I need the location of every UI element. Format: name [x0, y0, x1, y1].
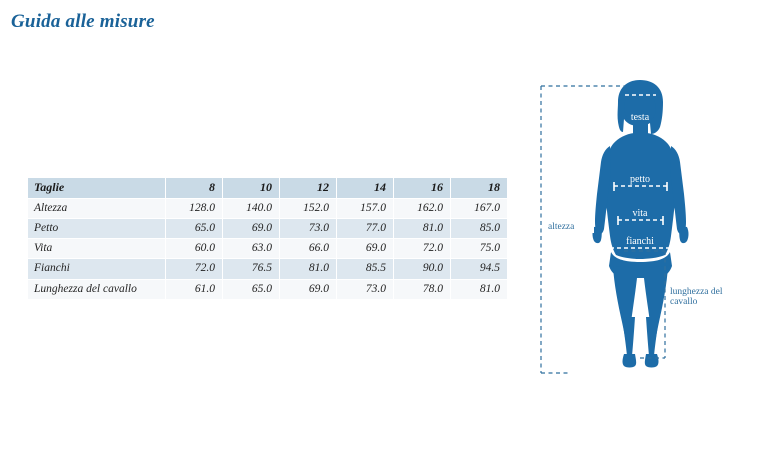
column-header-taglie: Taglie [28, 178, 165, 198]
row-cell: 69.0 [337, 239, 393, 258]
row-cell: 76.5 [223, 259, 279, 278]
row-cell: 85.5 [337, 259, 393, 278]
table-row: Fianchi 72.0 76.5 81.0 85.5 90.0 94.5 [28, 259, 507, 278]
row-cell: 73.0 [337, 280, 393, 299]
table-row: Vita 60.0 63.0 66.0 69.0 72.0 75.0 [28, 239, 507, 258]
row-cell: 78.0 [394, 280, 450, 299]
row-cell: 81.0 [394, 219, 450, 238]
table-row: Altezza 128.0 140.0 152.0 157.0 162.0 16… [28, 199, 507, 218]
row-cell: 140.0 [223, 199, 279, 218]
diagram-label-fianchi: fianchi [626, 236, 654, 247]
row-label: Lunghezza del cavallo [28, 280, 165, 299]
row-cell: 65.0 [166, 219, 222, 238]
row-cell: 152.0 [280, 199, 336, 218]
column-header-size-18: 18 [451, 178, 507, 198]
row-cell: 162.0 [394, 199, 450, 218]
row-cell: 66.0 [280, 239, 336, 258]
right-foot-shape [645, 354, 659, 368]
row-cell: 94.5 [451, 259, 507, 278]
row-cell: 157.0 [337, 199, 393, 218]
row-cell: 167.0 [451, 199, 507, 218]
row-cell: 81.0 [451, 280, 507, 299]
table-row: Petto 65.0 69.0 73.0 77.0 81.0 85.0 [28, 219, 507, 238]
body-silhouette-icon [593, 80, 689, 368]
left-foot-shape [623, 354, 637, 368]
measurement-figure-diagram: testa petto vita fianchi altezza lunghez… [530, 70, 768, 390]
row-cell: 85.0 [451, 219, 507, 238]
right-leg-shape [643, 266, 668, 358]
diagram-label-cavallo-line1: lunghezza del [670, 287, 723, 297]
column-header-size-10: 10 [223, 178, 279, 198]
row-cell: 69.0 [223, 219, 279, 238]
left-leg-shape [613, 266, 638, 358]
row-cell: 69.0 [280, 280, 336, 299]
row-label: Vita [28, 239, 165, 258]
row-cell: 72.0 [166, 259, 222, 278]
size-guide-table-container: Taglie 8 10 12 14 16 18 Altezza 128.0 14… [27, 177, 508, 300]
diagram-label-testa: testa [631, 112, 650, 123]
row-cell: 60.0 [166, 239, 222, 258]
row-cell: 90.0 [394, 259, 450, 278]
column-header-size-16: 16 [394, 178, 450, 198]
row-cell: 72.0 [394, 239, 450, 258]
row-cell: 77.0 [337, 219, 393, 238]
row-cell: 63.0 [223, 239, 279, 258]
row-cell: 61.0 [166, 280, 222, 299]
row-cell: 65.0 [223, 280, 279, 299]
right-hand-shape [679, 226, 688, 243]
size-guide-table: Taglie 8 10 12 14 16 18 Altezza 128.0 14… [27, 177, 508, 300]
row-cell: 128.0 [166, 199, 222, 218]
table-header-row: Taglie 8 10 12 14 16 18 [28, 178, 507, 198]
row-cell: 73.0 [280, 219, 336, 238]
row-cell: 75.0 [451, 239, 507, 258]
column-header-size-14: 14 [337, 178, 393, 198]
row-cell: 81.0 [280, 259, 336, 278]
column-header-size-8: 8 [166, 178, 222, 198]
column-header-size-12: 12 [280, 178, 336, 198]
diagram-label-altezza: altezza [548, 222, 575, 232]
row-label: Fianchi [28, 259, 165, 278]
diagram-label-vita: vita [633, 208, 649, 219]
row-label: Petto [28, 219, 165, 238]
page-title: Guida alle misure [11, 11, 155, 33]
row-label: Altezza [28, 199, 165, 218]
table-row: Lunghezza del cavallo 61.0 65.0 69.0 73.… [28, 280, 507, 299]
diagram-label-petto: petto [630, 174, 650, 185]
diagram-label-cavallo-line2: cavallo [670, 297, 698, 307]
